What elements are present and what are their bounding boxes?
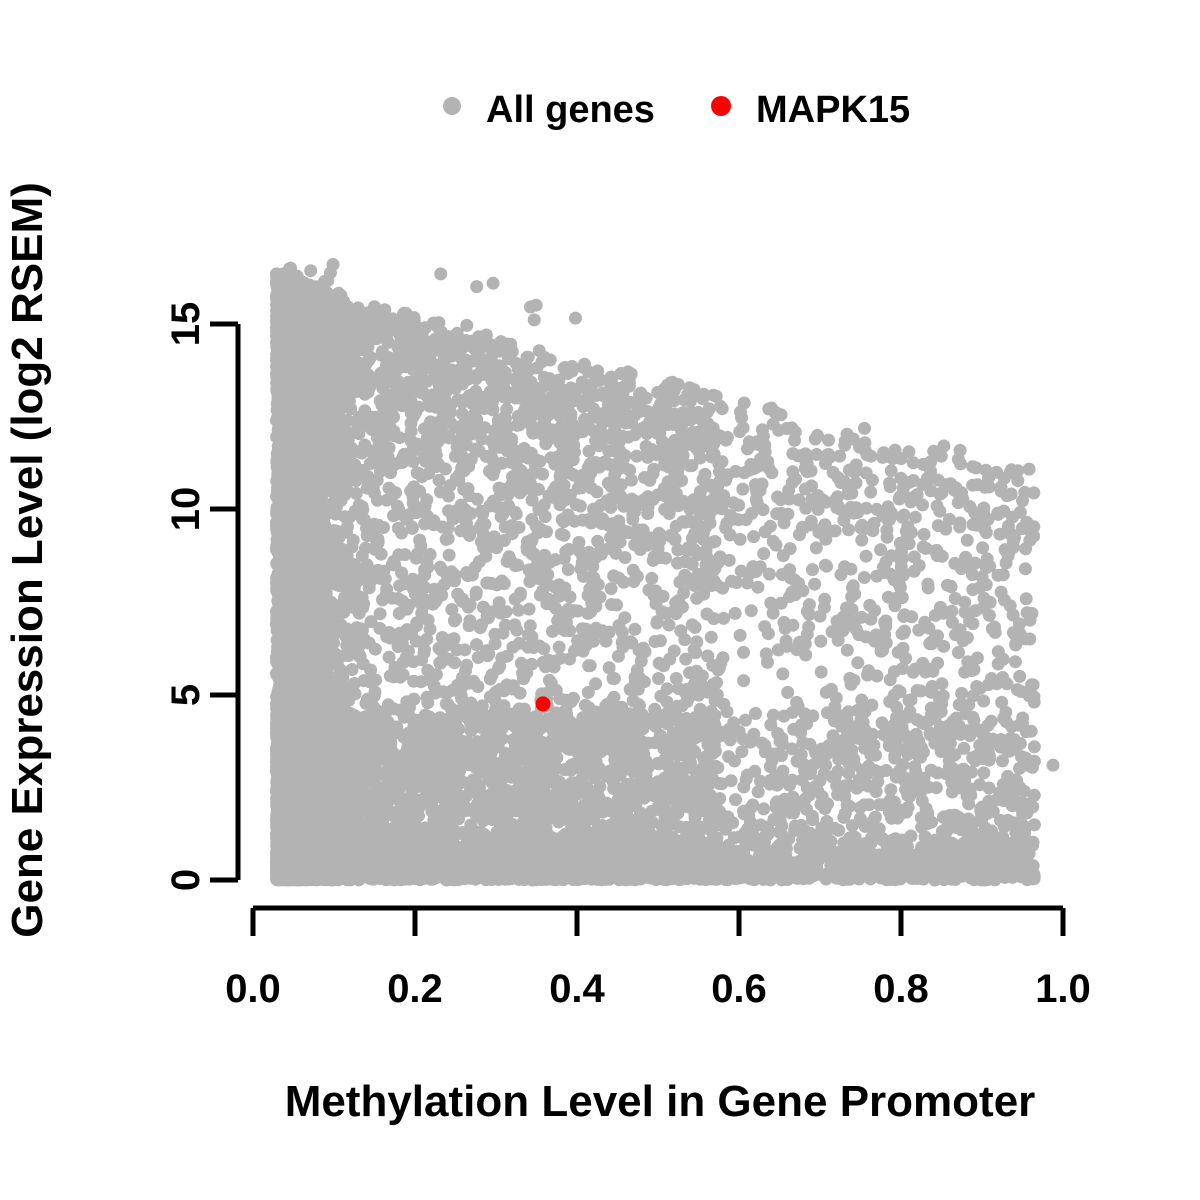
x-tick-label-02: 0.2 xyxy=(387,967,443,1011)
plot-canvas: All genes MAPK15 15 10 5 0 xyxy=(0,0,1200,1200)
scatter-point-cloud xyxy=(270,258,1060,887)
x-tick-label-10: 1.0 xyxy=(1035,967,1091,1011)
red-dot-icon xyxy=(711,96,731,116)
x-tick-label-04: 0.4 xyxy=(549,967,605,1011)
x-axis xyxy=(253,908,1063,936)
x-axis-title: Methylation Level in Gene Promoter xyxy=(285,1077,1036,1126)
gray-dot-icon xyxy=(443,97,461,115)
x-tick-label-0: 0.0 xyxy=(225,967,281,1011)
x-tick-label-06: 0.6 xyxy=(711,967,767,1011)
scatter-plot-figure: All genes MAPK15 15 10 5 0 xyxy=(0,0,1200,1200)
legend-label-mapk15: MAPK15 xyxy=(756,89,910,131)
scatter-point-mapk15 xyxy=(536,696,551,711)
y-tick-label-10: 10 xyxy=(164,487,208,532)
y-tick-label-5: 5 xyxy=(164,684,208,706)
y-axis-title: Gene Expression Level (log2 RSEM) xyxy=(3,182,52,938)
y-tick-label-15: 15 xyxy=(164,302,208,347)
x-tick-labels: 0.0 0.2 0.4 0.6 0.8 1.0 xyxy=(225,967,1091,1011)
mapk15-point xyxy=(536,696,551,711)
scatter-points-all-genes xyxy=(270,258,1060,887)
legend: All genes MAPK15 xyxy=(443,89,910,131)
legend-label-all-genes: All genes xyxy=(486,89,655,131)
y-tick-labels: 15 10 5 0 xyxy=(164,302,208,891)
y-tick-label-0: 0 xyxy=(164,869,208,891)
y-axis xyxy=(210,324,238,880)
x-tick-label-08: 0.8 xyxy=(873,967,929,1011)
